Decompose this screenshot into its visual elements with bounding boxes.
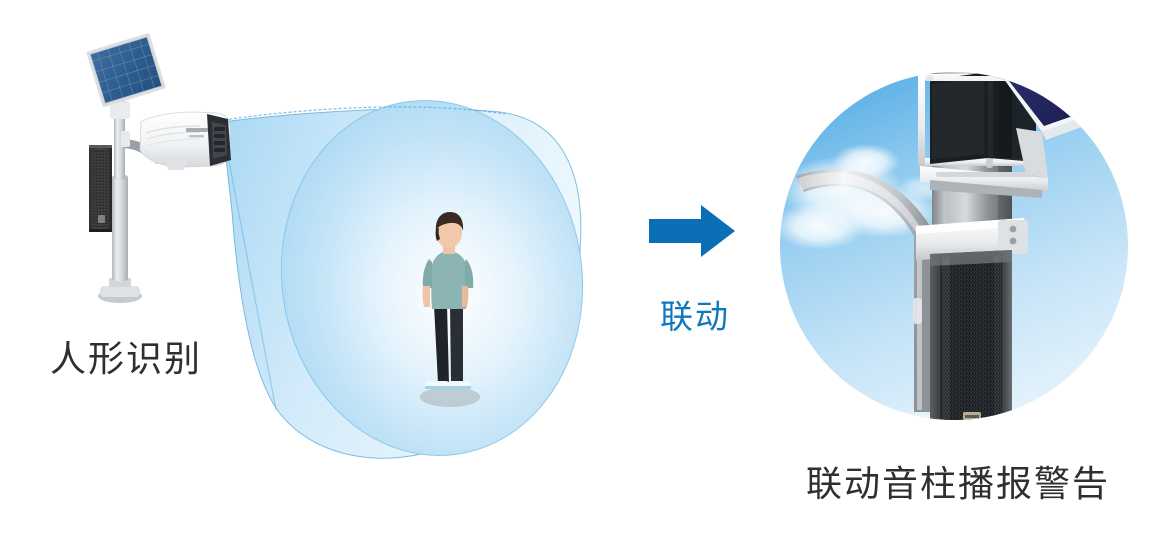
solar-panel [86, 33, 166, 108]
right-arrow-icon [649, 205, 735, 257]
linkage-indicator: 联动 [645, 205, 745, 345]
person-shadow [420, 387, 480, 407]
illustration-canvas: 人形识别 联动 [0, 0, 1163, 542]
person-arm-left [423, 286, 430, 307]
bullet-camera [140, 112, 231, 170]
solar-camera-pole-assembly [86, 33, 231, 303]
clamp-screw-top [1010, 226, 1017, 233]
speaker-badge [963, 412, 981, 426]
caption-linkage: 联动 [645, 290, 745, 338]
pole-base [100, 286, 140, 297]
speaker-column [89, 145, 112, 232]
clamp-housing [998, 220, 1028, 254]
person-shirt [431, 251, 467, 309]
clamp-screw-bottom [1010, 238, 1017, 245]
caption-human-detection: 人形识别 [50, 330, 202, 382]
left-scene-human-detection: 人形识别 [0, 0, 640, 542]
detection-cone [222, 81, 605, 475]
caption-broadcast-warning: 联动音柱播报警告 [806, 455, 1110, 507]
person-arm-right [462, 286, 468, 307]
right-scene-sound-column: 联动音柱播报警告 [780, 40, 1163, 480]
sound-column-speaker [930, 250, 1012, 466]
sound-column-photo [780, 40, 1163, 480]
person-leg-right [450, 305, 463, 383]
pole-lower [112, 175, 128, 281]
